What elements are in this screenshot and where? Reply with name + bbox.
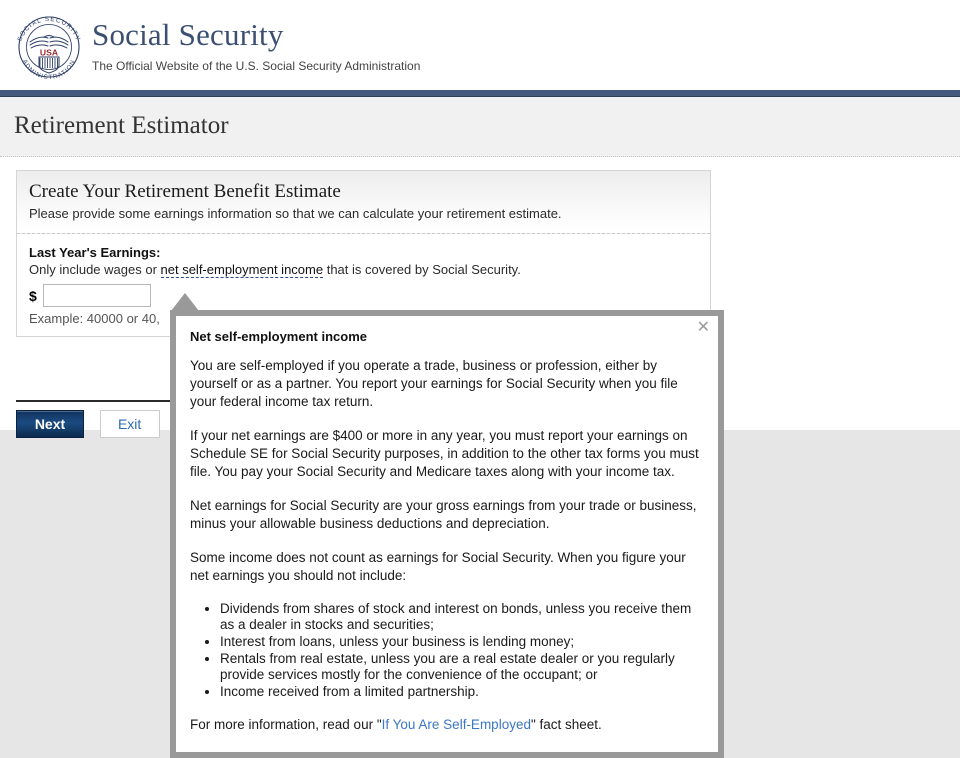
earnings-amount-input[interactable] [43, 284, 151, 307]
list-item: Rentals from real estate, unless you are… [220, 651, 702, 683]
svg-text:USA: USA [40, 48, 58, 58]
tooltip-pointer-arrow [171, 293, 199, 311]
list-item: Income received from a limited partnersh… [220, 684, 702, 700]
site-header: SOCIAL SECURITY ADMINISTRATION USA [0, 0, 960, 90]
help-text-before: Only include wages or [29, 262, 161, 277]
close-icon[interactable]: ✕ [697, 320, 710, 336]
earnings-field-help: Only include wages or net self-employmen… [29, 262, 698, 277]
panel-subheading: Please provide some earnings information… [29, 206, 698, 221]
brand-title: Social Security [92, 17, 420, 53]
net-self-employment-income-tooltip: ✕ Net self-employment income You are sel… [170, 310, 724, 758]
help-text-after: that is covered by Social Security. [323, 262, 521, 277]
page-title: Retirement Estimator [14, 112, 229, 140]
list-item: Dividends from shares of stock and inter… [220, 601, 702, 633]
list-item: Interest from loans, unless your busines… [220, 634, 702, 650]
tooltip-footer: For more information, read our "If You A… [190, 716, 700, 734]
net-self-employment-income-tooltip-link[interactable]: net self-employment income [161, 262, 324, 278]
tooltip-footer-before: For more information, read our " [190, 717, 382, 732]
tooltip-paragraph-2: If your net earnings are $400 or more in… [190, 427, 700, 481]
currency-symbol: $ [29, 288, 37, 304]
tooltip-paragraph-1: You are self-employed if you operate a t… [190, 357, 700, 411]
brand-block: Social Security The Official Website of … [92, 17, 420, 73]
page-title-banner: Retirement Estimator [0, 97, 960, 157]
tooltip-paragraph-4: Some income does not count as earnings f… [190, 549, 700, 585]
tooltip-paragraph-3: Net earnings for Social Security are you… [190, 497, 700, 533]
ssa-seal-icon: SOCIAL SECURITY ADMINISTRATION USA [10, 10, 88, 82]
tooltip-footer-after: " fact sheet. [531, 717, 602, 732]
svg-text:SOCIAL SECURITY: SOCIAL SECURITY [16, 16, 81, 42]
earnings-input-row: $ [29, 284, 698, 307]
if-you-are-self-employed-link[interactable]: If You Are Self-Employed [382, 717, 531, 732]
brand-subtitle: The Official Website of the U.S. Social … [92, 59, 420, 73]
form-button-row: Next Exit [16, 410, 160, 438]
panel-heading: Create Your Retirement Benefit Estimate [29, 181, 698, 203]
tooltip-title: Net self-employment income [190, 329, 702, 344]
tooltip-exclusion-list: Dividends from shares of stock and inter… [190, 601, 702, 700]
tooltip-inner: ✕ Net self-employment income You are sel… [176, 316, 718, 752]
earnings-field-label: Last Year's Earnings: [29, 245, 698, 260]
panel-header: Create Your Retirement Benefit Estimate … [17, 171, 710, 234]
exit-button[interactable]: Exit [100, 410, 160, 438]
next-button[interactable]: Next [16, 410, 84, 438]
navy-divider-bar [0, 90, 960, 97]
